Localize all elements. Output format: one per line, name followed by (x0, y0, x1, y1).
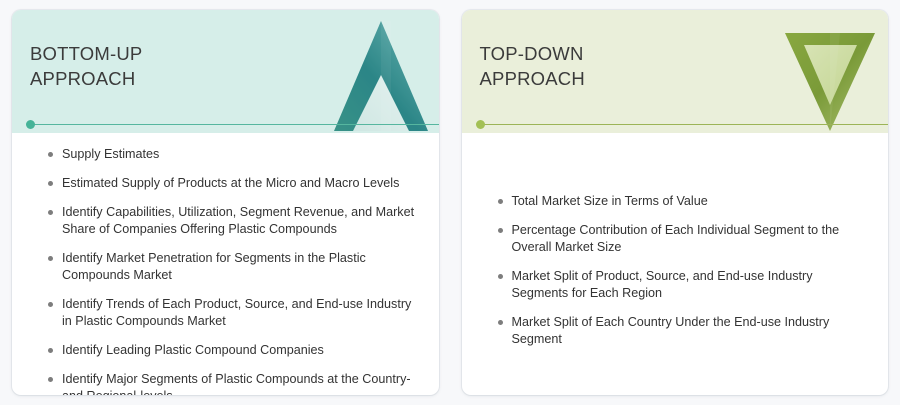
panel-title-bottom-up: BOTTOM-UP APPROACH (30, 41, 142, 91)
list-item: Identify Capabilities, Utilization, Segm… (36, 204, 423, 238)
list-item: Market Split of Product, Source, and End… (486, 268, 873, 302)
header-rule-bottom-up (26, 120, 439, 129)
list-item: Total Market Size in Terms of Value (486, 193, 873, 210)
rule-line (481, 124, 889, 125)
panel-bottom-up: BOTTOM-UP APPROACH (12, 10, 439, 395)
list-item: Market Split of Each Country Under the E… (486, 314, 873, 348)
rule-dot (476, 120, 485, 129)
list-item: Identify Market Penetration for Segments… (36, 250, 423, 284)
list-item: Percentage Contribution of Each Individu… (486, 222, 873, 256)
rule-line (31, 124, 439, 125)
bullet-list-top-down: Total Market Size in Terms of Value Perc… (462, 133, 889, 395)
downward-triangle-icon (782, 15, 878, 133)
list-item: Supply Estimates (36, 146, 423, 163)
panel-header-top-down: TOP-DOWN APPROACH (462, 10, 889, 133)
panel-top-down: TOP-DOWN APPROACH (462, 10, 889, 395)
approach-comparison-board: BOTTOM-UP APPROACH (0, 0, 900, 405)
upward-triangle-icon (333, 15, 429, 133)
list-item: Identify Major Segments of Plastic Compo… (36, 371, 423, 395)
panel-title-top-down: TOP-DOWN APPROACH (480, 41, 585, 91)
list-item: Estimated Supply of Products at the Micr… (36, 175, 423, 192)
rule-dot (26, 120, 35, 129)
bullet-list-bottom-up: Supply Estimates Estimated Supply of Pro… (12, 133, 439, 395)
list-item: Identify Leading Plastic Compound Compan… (36, 342, 423, 359)
panel-header-bottom-up: BOTTOM-UP APPROACH (12, 10, 439, 133)
header-rule-top-down (476, 120, 889, 129)
list-item: Identify Trends of Each Product, Source,… (36, 296, 423, 330)
